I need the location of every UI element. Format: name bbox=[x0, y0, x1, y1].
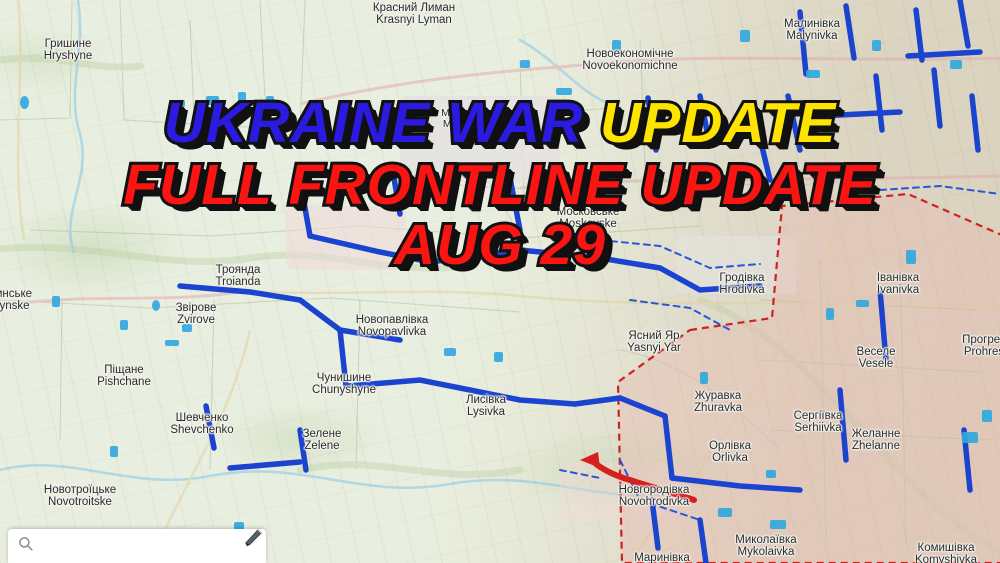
water-marker bbox=[688, 130, 700, 139]
map-label-zhelanne: ЖеланнеZhelanne bbox=[852, 428, 901, 453]
map-label-troianda: ТрояндаTroianda bbox=[216, 264, 261, 289]
map-label-latin: Myrnohrad bbox=[441, 119, 495, 130]
water-marker bbox=[110, 446, 118, 457]
water-marker bbox=[266, 96, 274, 106]
water-marker bbox=[806, 70, 820, 78]
map-label-latin: Vesele bbox=[857, 358, 896, 370]
map-label-latin: Pishchane bbox=[97, 376, 151, 388]
water-marker bbox=[176, 100, 185, 107]
map-label-cyrillic: Миколаївка bbox=[735, 534, 796, 546]
map-label-cyrillic: Новгородівка bbox=[619, 484, 690, 496]
map-label-cyrillic: Желанне bbox=[852, 428, 901, 440]
map-label-latin: Novohrodivka bbox=[619, 496, 690, 508]
map-label-latin: Chunyshyne bbox=[312, 384, 376, 396]
front-line-markers bbox=[0, 0, 1000, 563]
map-label-cyrillic: Орлівка bbox=[709, 440, 751, 452]
map-label-moskovske: МосковськеMoskovske bbox=[557, 206, 620, 231]
map-label-cyrillic: Журавка bbox=[694, 390, 742, 402]
water-marker bbox=[906, 250, 916, 264]
map-label-cyrillic: Комишівка bbox=[915, 542, 977, 554]
map-label-latin: Novotroitske bbox=[44, 496, 116, 508]
map-label-cyrillic: Гришине bbox=[44, 38, 93, 50]
map-label-prohres: ПрогресProhres bbox=[962, 334, 1000, 359]
map-search-bar[interactable] bbox=[8, 529, 266, 563]
map-label-cyrillic: Чунишине bbox=[312, 372, 376, 384]
search-icon bbox=[18, 536, 33, 556]
map-label-latin: Hryshyne bbox=[44, 50, 93, 62]
map-label-cyrillic: Сергіївка bbox=[794, 410, 843, 422]
water-marker bbox=[700, 372, 708, 384]
thumbnail-canvas: ГришинеHryshyneКрасний ЛиманKrasnyi Lyma… bbox=[0, 0, 1000, 563]
water-marker bbox=[982, 410, 992, 422]
map-label-latin: Troianda bbox=[216, 276, 261, 288]
map-label-lysivka: ЛисівкаLysivka bbox=[466, 394, 506, 419]
water-marker bbox=[238, 92, 246, 104]
water-marker bbox=[872, 40, 881, 51]
map-label-cyrillic: Зелене bbox=[303, 428, 342, 440]
map-label-latin: Novopavlivka bbox=[356, 326, 429, 338]
map-label-latin: Rodynske bbox=[0, 300, 32, 312]
map-label-hryshyne: ГришинеHryshyne bbox=[44, 38, 93, 63]
map-label-malynivka: МалинівкаMalynivka bbox=[784, 18, 840, 43]
water-marker bbox=[262, 105, 271, 113]
map-label-chunyshyne: ЧунишинеChunyshyne bbox=[312, 372, 376, 397]
map-label-yasnyi-yar: Ясний ЯрYasnyi Yar bbox=[627, 330, 681, 355]
map-label-krasnyi-lyman: Красний ЛиманKrasnyi Lyman bbox=[373, 2, 455, 27]
water-marker bbox=[556, 88, 572, 95]
water-marker bbox=[206, 96, 219, 105]
map-label-cyrillic: Гродівка bbox=[719, 272, 764, 284]
map-label-latin: Moskovske bbox=[557, 218, 620, 230]
water-marker bbox=[856, 300, 869, 307]
map-label-latin: Zhuravka bbox=[694, 402, 742, 414]
map-label-latin: Serhiivka bbox=[794, 422, 843, 434]
water-marker bbox=[826, 308, 834, 320]
water-marker bbox=[766, 470, 776, 478]
water-marker bbox=[520, 60, 530, 68]
map-label-cyrillic: Малинівка bbox=[784, 18, 840, 30]
map-label-cyrillic: Шевченко bbox=[170, 412, 233, 424]
water-marker bbox=[20, 96, 29, 109]
map-label-zvirove: ЗвіровеZvirove bbox=[176, 302, 217, 327]
map-label-marynivka: МаринівкаMarynivka bbox=[634, 552, 690, 563]
water-marker bbox=[52, 296, 60, 307]
map-label-latin: Malynivka bbox=[784, 30, 840, 42]
map-label-latin: Orlivka bbox=[709, 452, 751, 464]
map-label-cyrillic: Звірове bbox=[176, 302, 217, 314]
map-label-latin: Mykolaivka bbox=[735, 546, 796, 558]
water-marker bbox=[152, 300, 160, 311]
map-label-latin: Shevchenko bbox=[170, 424, 233, 436]
map-label-komyshivka: КомишівкаKomyshivka bbox=[915, 542, 977, 563]
map-label-cyrillic: Маринівка bbox=[634, 552, 690, 563]
map-label-latin: Zvirove bbox=[176, 314, 217, 326]
map-label-pishchane: ПіщанеPishchane bbox=[97, 364, 151, 389]
map-label-zhuravka: ЖуравкаZhuravka bbox=[694, 390, 742, 415]
map-label-cyrillic: Ясний Яр bbox=[627, 330, 681, 342]
map-label-cyrillic: Новоекономічне bbox=[582, 48, 677, 60]
map-label-latin: Yasnyi Yar bbox=[627, 342, 681, 354]
map-label-latin: Zhelanne bbox=[852, 440, 901, 452]
map-label-ivanivka: ІванівкаIvanivka bbox=[877, 272, 919, 297]
map-canvas[interactable]: ГришинеHryshyneКрасний ЛиманKrasnyi Lyma… bbox=[0, 0, 1000, 563]
map-label-cyrillic: Новотроїцьке bbox=[44, 484, 116, 496]
map-label-novoekonomichne: НовоекономічнеNovoekonomichne bbox=[582, 48, 677, 73]
water-marker bbox=[165, 340, 179, 346]
map-label-cyrillic: Прогрес bbox=[962, 334, 1000, 346]
map-label-latin: Krasnyi Lyman bbox=[373, 14, 455, 26]
map-label-orlivka: ОрлівкаOrlivka bbox=[709, 440, 751, 465]
pencil-icon[interactable] bbox=[243, 526, 265, 553]
map-label-latin: Novoekonomichne bbox=[582, 60, 677, 72]
water-marker bbox=[770, 520, 786, 529]
map-label-shevchenko: ШевченкоShevchenko bbox=[170, 412, 233, 437]
map-label-cyrillic: Красний Лиман bbox=[373, 2, 455, 14]
map-label-hrodivka: ГродівкаHrodivka bbox=[719, 272, 764, 297]
map-label-vesele: ВеселеVesele bbox=[857, 346, 896, 371]
water-marker bbox=[718, 508, 732, 517]
map-label-latin: Prohres bbox=[962, 346, 1000, 358]
water-marker bbox=[950, 60, 962, 69]
map-label-latin: Zelene bbox=[303, 440, 342, 452]
water-marker bbox=[120, 320, 128, 330]
map-label-serhiivka: СергіївкаSerhiivka bbox=[794, 410, 843, 435]
map-label-cyrillic: Іванівка bbox=[877, 272, 919, 284]
map-label-cyrillic: Московське bbox=[557, 206, 620, 218]
map-label-cyrillic: Новопавлівка bbox=[356, 314, 429, 326]
map-label-mykolaivka: МиколаївкаMykolaivka bbox=[735, 534, 796, 559]
map-label-cyrillic: Веселе bbox=[857, 346, 896, 358]
water-marker bbox=[962, 432, 978, 443]
map-label-zelene: ЗеленеZelene bbox=[303, 428, 342, 453]
map-label-cyrillic: Троянда bbox=[216, 264, 261, 276]
water-marker bbox=[494, 352, 503, 362]
map-label-rodynske: РодинськеRodynske bbox=[0, 288, 32, 313]
map-label-latin: Lysivka bbox=[466, 406, 506, 418]
map-label-latin: Komyshivka bbox=[915, 554, 977, 563]
water-marker bbox=[444, 348, 456, 356]
water-marker bbox=[740, 30, 750, 42]
map-label-latin: Ivanivka bbox=[877, 284, 919, 296]
map-label-novohrodivka: НовгородівкаNovohrodivka bbox=[619, 484, 690, 509]
map-label-novotroitske: НовотроїцькеNovotroitske bbox=[44, 484, 116, 509]
map-label-novopavlivka: НовопавлівкаNovopavlivka bbox=[356, 314, 429, 339]
map-label-cyrillic: Лисівка bbox=[466, 394, 506, 406]
map-label-latin: Hrodivka bbox=[719, 284, 764, 296]
map-label-cyrillic: Родинське bbox=[0, 288, 32, 300]
map-label-cyrillic: Піщане bbox=[97, 364, 151, 376]
map-label-myrnohrad: МирноградMyrnohrad bbox=[441, 108, 495, 131]
